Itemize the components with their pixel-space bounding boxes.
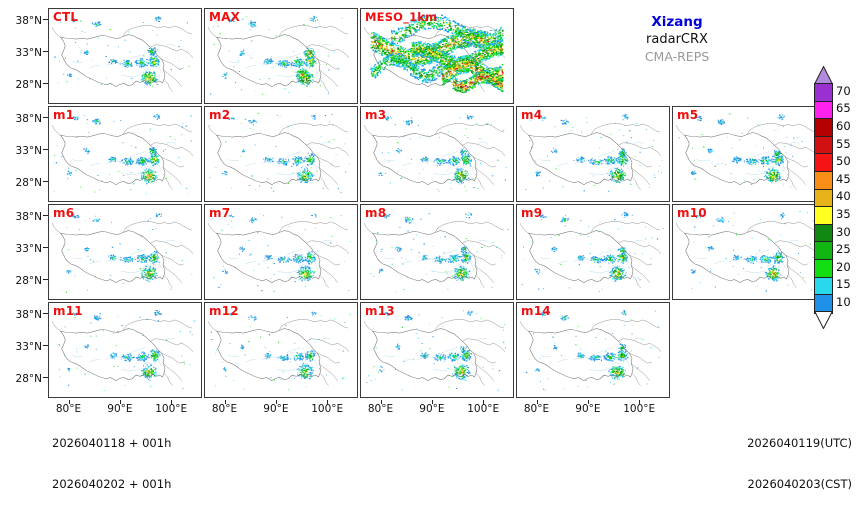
colorbar-segment [815,278,832,296]
panel-label: m5 [677,108,698,122]
colorbar-level-label: 25 [836,244,851,255]
footer-right-line2: 2026040203(CST) [747,478,852,492]
panel-m4: m4 [516,106,670,202]
panel-label: m3 [365,108,386,122]
colorbar-level-label: 60 [836,121,851,132]
panel-meso_1km: MESO_1km [360,8,514,104]
panel-m13: m13 [360,302,514,398]
panel-label: m13 [365,304,395,318]
y-tick-text: 28°N [16,275,42,287]
y-tick-label: 38°N [0,16,42,26]
colorbar-level-label: 30 [836,227,851,238]
y-tick-label: 33°N [0,146,42,156]
panel-label: m4 [521,108,542,122]
panel-max: MAX [204,8,358,104]
footer-left-line2: 2026040202 + 001h [52,478,171,492]
panel-m14: m14 [516,302,670,398]
panel-m3: m3 [360,106,514,202]
y-tick-text: 33°N [16,341,42,353]
panel-m9: m9 [516,204,670,300]
y-tick-text: 38°N [16,211,42,223]
colorbar-level-label: 40 [836,191,851,202]
colorbar-level-label: 10 [836,297,851,308]
y-tick-text: 33°N [16,47,42,59]
x-tick-label: 80°E [201,404,249,414]
panel-label: CTL [53,10,78,24]
colorbar-segment [815,154,832,172]
panel-ctl: CTL [48,8,202,104]
y-tick-label: 38°N [0,310,42,320]
panel-label: m9 [521,206,542,220]
footer-right-line1: 2026040119(UTC) [747,437,852,451]
panel-label: m14 [521,304,551,318]
colorbar-segment [815,207,832,225]
panel-m6: m6 [48,204,202,300]
colorbar-segment [815,102,832,120]
colorbar-segment [815,172,832,190]
panel-m2: m2 [204,106,358,202]
panel-label: m11 [53,304,83,318]
header-block: Xizang radarCRX CMA-REPS [566,14,788,65]
variable-name: radarCRX [566,31,788,48]
colorbar-cap-bottom [814,311,833,329]
y-tick-text: 28°N [16,79,42,91]
colorbar-level-label: 45 [836,174,851,185]
model-name: CMA-REPS [566,48,788,65]
panel-label: m6 [53,206,74,220]
colorbar-segment [815,260,832,278]
footer-left-line1: 2026040118 + 001h [52,437,171,451]
x-tick-label: 100°E [615,404,663,414]
y-tick-label: 28°N [0,276,42,286]
colorbar-level-label: 70 [836,86,851,97]
panel-label: m1 [53,108,74,122]
y-tick-label: 33°N [0,48,42,58]
colorbar-level-label: 50 [836,156,851,167]
x-tick-label: 80°E [357,404,405,414]
panel-label: m7 [209,206,230,220]
panel-m5: m5 [672,106,826,202]
colorbar-level-label: 35 [836,209,851,220]
region-title: Xizang [566,14,788,31]
x-tick-label: 100°E [459,404,507,414]
colorbar-level-label: 65 [836,103,851,114]
y-tick-label: 33°N [0,342,42,352]
colorbar-level-label: 15 [836,279,851,290]
colorbar-segment [815,225,832,243]
x-tick-label: 90°E [252,404,300,414]
colorbar: 70656055504540353025201510 [806,66,860,328]
y-tick-label: 28°N [0,80,42,90]
y-tick-text: 33°N [16,145,42,157]
panel-m7: m7 [204,204,358,300]
panel-m11: m11 [48,302,202,398]
panel-label: m10 [677,206,707,220]
y-tick-label: 38°N [0,114,42,124]
colorbar-segments [814,83,833,314]
x-tick-label: 100°E [303,404,351,414]
x-tick-label: 90°E [408,404,456,414]
y-tick-text: 38°N [16,113,42,125]
x-tick-label: 90°E [564,404,612,414]
panel-m8: m8 [360,204,514,300]
panel-label: MAX [209,10,240,24]
x-tick-label: 80°E [513,404,561,414]
y-tick-label: 28°N [0,178,42,188]
panel-m1: m1 [48,106,202,202]
y-tick-label: 28°N [0,374,42,384]
panel-m10: m10 [672,204,826,300]
panel-m12: m12 [204,302,358,398]
footer-left: 2026040118 + 001h 2026040202 + 001h [52,410,171,518]
panel-label: MESO_1km [365,10,437,24]
colorbar-segment [815,84,832,102]
colorbar-segment [815,137,832,155]
y-tick-label: 33°N [0,244,42,254]
y-tick-text: 28°N [16,373,42,385]
panel-label: m8 [365,206,386,220]
colorbar-segment [815,242,832,260]
colorbar-segment [815,190,832,208]
colorbar-segment [815,119,832,137]
colorbar-level-label: 55 [836,139,851,150]
footer-right: 2026040119(UTC) 2026040203(CST) [747,410,852,518]
y-tick-text: 28°N [16,177,42,189]
y-tick-text: 38°N [16,15,42,27]
panel-label: m2 [209,108,230,122]
colorbar-level-label: 20 [836,262,851,273]
panel-label: m12 [209,304,239,318]
y-tick-label: 38°N [0,212,42,222]
y-tick-text: 38°N [16,309,42,321]
figure-canvas: 38°N33°N28°N38°N33°N28°N38°N33°N28°N38°N… [0,0,860,450]
y-tick-text: 33°N [16,243,42,255]
colorbar-cap-top [814,66,833,84]
